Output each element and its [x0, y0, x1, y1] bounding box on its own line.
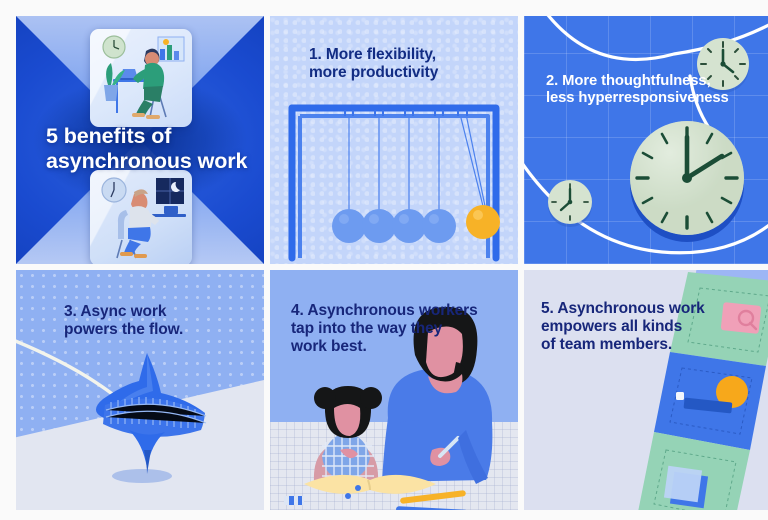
benefit-card-4: 4. Asynchronous workers tap into the way…	[270, 270, 518, 510]
large-clock	[630, 121, 744, 242]
card-5-title: 5. Asynchronous work empowers all kinds …	[541, 300, 749, 354]
card-3-title: 3. Async work powers the flow.	[64, 303, 244, 339]
card-4-title: 4. Asynchronous workers tap into the way…	[291, 302, 506, 356]
illustration-person-desk-night	[90, 170, 192, 264]
child-figure	[314, 386, 382, 482]
benefit-card-1: 1. More flexibility, more productivity	[270, 16, 518, 264]
clocks-illustration	[524, 16, 768, 264]
card-2-title: 2. More thoughtfulness, less hyperrespon…	[546, 73, 762, 107]
square-icon	[664, 466, 708, 508]
illustration-person-desk-day	[90, 29, 192, 127]
benefit-card-3: 3. Async work powers the flow.	[16, 270, 264, 510]
hero-card: 5 benefits of asynchronous work	[16, 16, 264, 264]
card-1-title: 1. More flexibility, more productivity	[309, 46, 499, 82]
benefit-card-5: 5. Asynchronous work empowers all kinds …	[524, 270, 768, 510]
infographic-board: 5 benefits of asynchronous work	[0, 0, 768, 520]
hero-title: 5 benefits of asynchronous work	[46, 124, 261, 174]
benefit-card-2: 2. More thoughtfulness, less hyperrespon…	[524, 16, 768, 264]
small-clock-bottom	[548, 180, 592, 227]
